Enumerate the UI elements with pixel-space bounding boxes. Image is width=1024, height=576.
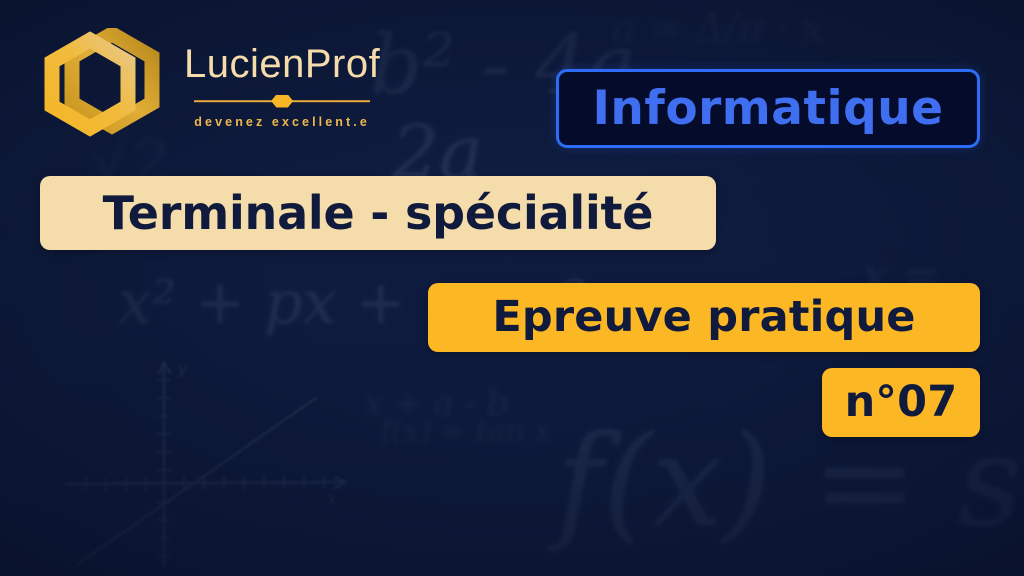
brand-tagline: devenez excellent.e [194, 115, 370, 129]
double-hexagon-logo-icon [40, 28, 168, 140]
exam-number-badge: n°07 [822, 368, 980, 437]
chalk-axis-label-y: y [177, 360, 187, 378]
hexagon-divider-icon [271, 95, 293, 108]
level-badge: Terminale - spécialité [40, 176, 716, 250]
chalk-axes-diagram: y x [60, 352, 360, 576]
exam-type-badge: Epreuve pratique [428, 283, 980, 352]
chalk-axis-label-x: x [328, 490, 337, 508]
brand-divider [194, 94, 370, 108]
chalk-note-a-delta-pi-x: a = Δ/π · x [612, 6, 824, 52]
brand-name: LucienProf [184, 43, 380, 85]
subject-badge: Informatique [556, 69, 980, 148]
chalk-note-f-tan-x: f(x) = tan x [380, 414, 551, 449]
video-thumbnail: a = Δ/π · x b² - 4a 2a √2 x² + px + q = … [0, 0, 1024, 576]
brand-logo: LucienProf devenez excellent.e [40, 28, 380, 140]
brand-text-block: LucienProf devenez excellent.e [184, 39, 380, 129]
chalk-note-x-plus-a-minus-b: x + a - b [364, 384, 508, 424]
